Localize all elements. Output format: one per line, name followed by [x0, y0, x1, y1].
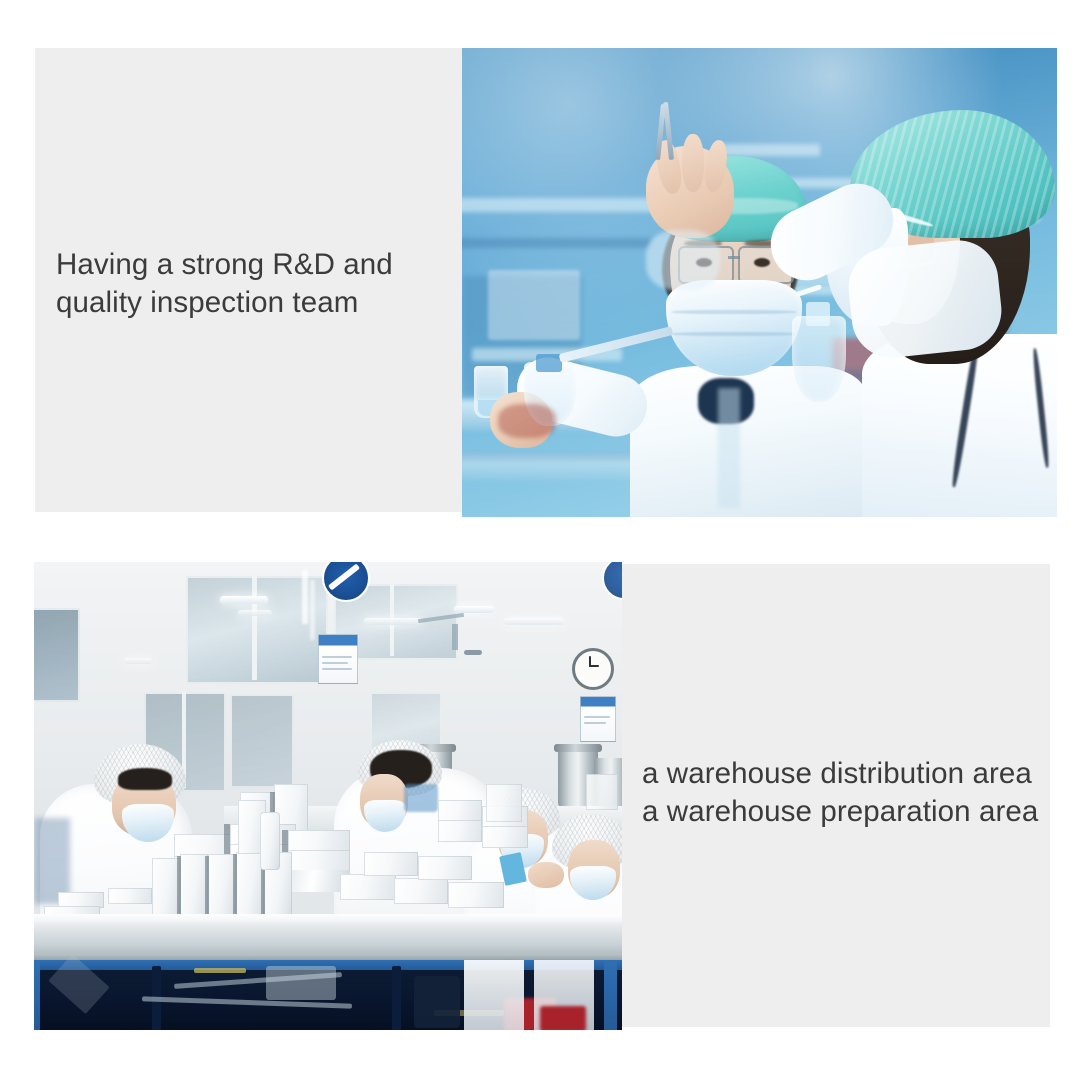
rd-quality-caption-line2: quality inspection team — [56, 284, 456, 322]
lab-inspection-photo — [462, 48, 1057, 517]
rd-quality-caption-line1: Having a strong R&D and — [56, 246, 456, 284]
warehouse-packing-photo — [34, 562, 622, 1030]
warehouse-caption-line2: a warehouse preparation area — [642, 793, 1062, 831]
wall-clock — [572, 648, 614, 690]
warehouse-caption-line1: a warehouse distribution area — [642, 755, 1062, 793]
slide-canvas: Having a strong R&D and quality inspecti… — [0, 0, 1080, 1080]
information-poster — [318, 634, 358, 684]
